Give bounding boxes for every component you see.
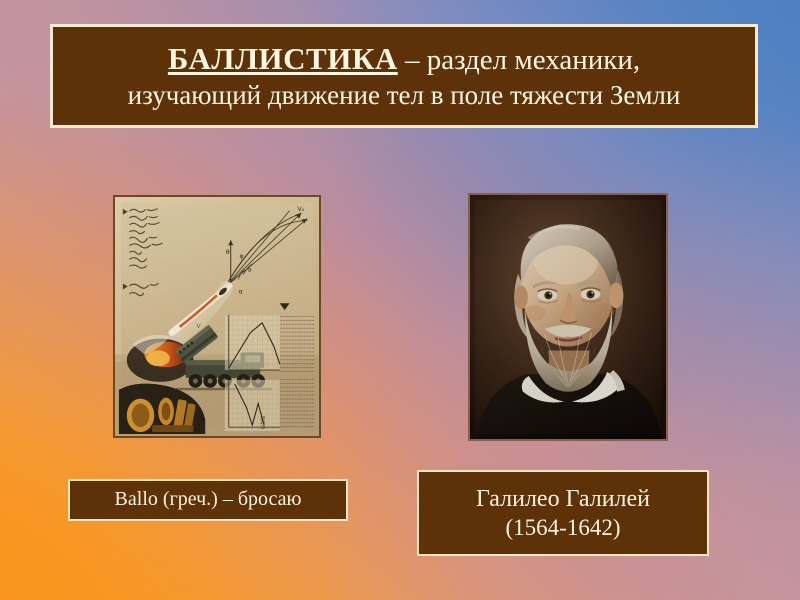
title-term: БАЛЛИСТИКА	[168, 41, 398, 76]
ballistics-worksheet-graphic: θ φ α α V₀ V	[115, 197, 319, 436]
caption-etymology-text: Ballo (греч.) – бросаю	[115, 488, 302, 512]
galileo-portrait-image	[468, 193, 668, 441]
slide-title-box: БАЛЛИСТИКА – раздел механики, изучающий …	[50, 24, 758, 128]
presentation-slide: БАЛЛИСТИКА – раздел механики, изучающий …	[0, 0, 800, 600]
caption-galileo-dates: (1564-1642)	[506, 514, 621, 541]
caption-galileo: Галилео Галилей (1564-1642)	[417, 470, 709, 556]
title-line-one: БАЛЛИСТИКА – раздел механики,	[168, 42, 640, 77]
caption-galileo-name: Галилео Галилей	[476, 485, 650, 513]
ballistics-worksheet-image: θ φ α α V₀ V	[113, 195, 321, 438]
title-dash: –	[398, 44, 427, 76]
title-line-one-rest: раздел механики,	[427, 44, 640, 76]
title-line-two: изучающий движение тел в поле тяжести Зе…	[128, 80, 681, 110]
galileo-portrait-graphic	[470, 195, 666, 439]
caption-etymology: Ballo (греч.) – бросаю	[68, 479, 348, 521]
